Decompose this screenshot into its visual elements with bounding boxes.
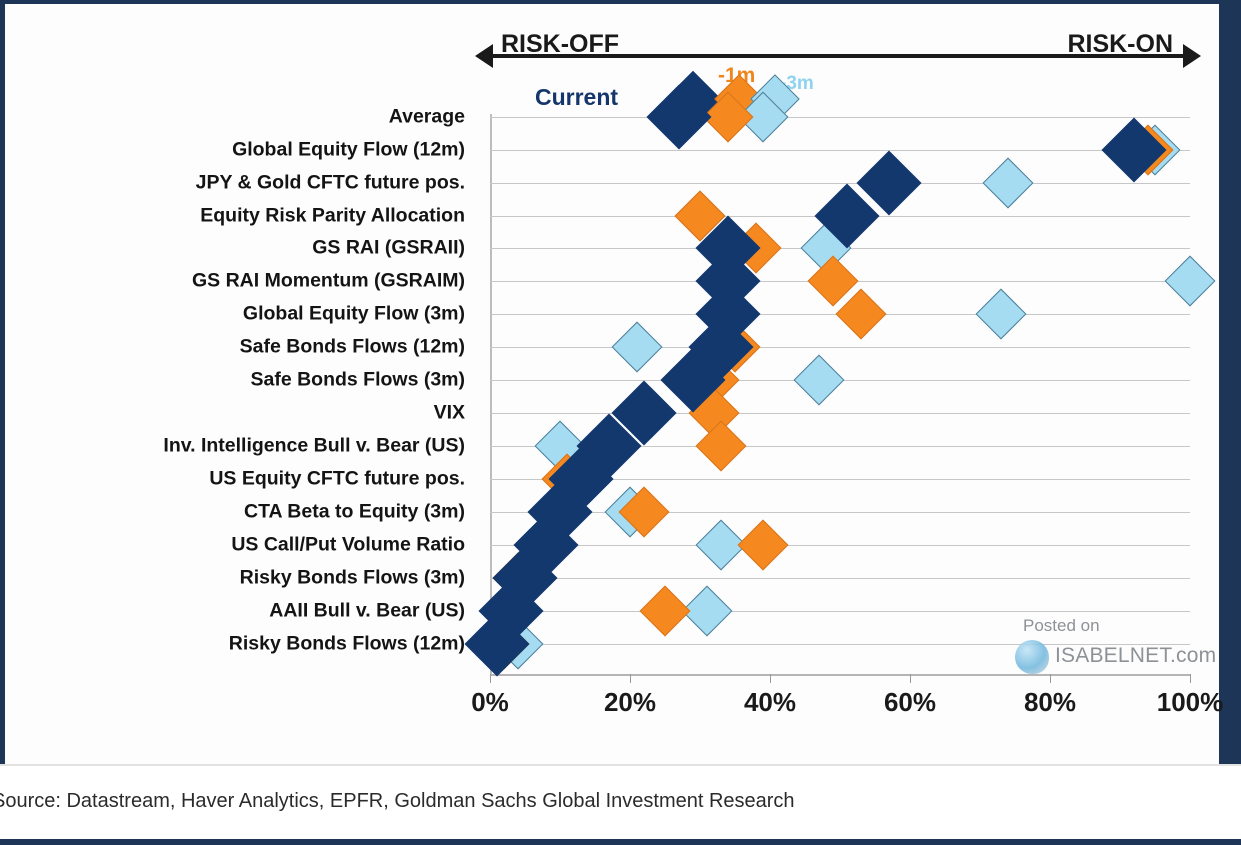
category-label: Equity Risk Parity Allocation xyxy=(200,204,465,227)
category-label: JPY & Gold CFTC future pos. xyxy=(196,171,465,194)
category-label: Average xyxy=(389,105,465,128)
x-axis-tick-label: 20% xyxy=(604,687,656,718)
x-axis-tick xyxy=(910,674,911,683)
gridline xyxy=(490,347,1190,348)
gridline xyxy=(490,611,1190,612)
watermark: Posted on ISABELNET.com xyxy=(1015,616,1215,686)
chart-footer: Source: Datastream, Haver Analytics, EPF… xyxy=(0,764,1241,839)
risk-spectrum-arrow: RISK-OFF RISK-ON xyxy=(475,34,1201,68)
arrow-right-icon xyxy=(1183,44,1201,68)
plot-area: 0%20%40%60%80%100% xyxy=(490,114,1190,674)
source-note: Source: Datastream, Haver Analytics, EPF… xyxy=(0,790,795,813)
watermark-posted-label: Posted on xyxy=(1023,616,1100,636)
category-label: US Equity CFTC future pos. xyxy=(209,468,465,491)
x-axis-tick xyxy=(490,674,491,683)
category-label: GS RAI (GSRAII) xyxy=(312,237,465,260)
legend-label-current: Current xyxy=(535,84,618,111)
category-label: GS RAI Momentum (GSRAIM) xyxy=(192,270,465,293)
risk-on-label: RISK-ON xyxy=(1067,30,1173,59)
x-axis-tick-label: 0% xyxy=(471,687,509,718)
gridline xyxy=(490,512,1190,513)
category-label: Global Equity Flow (3m) xyxy=(243,303,465,326)
gridline xyxy=(490,578,1190,579)
category-label: Safe Bonds Flows (12m) xyxy=(240,336,465,359)
watermark-site-label: ISABELNET.com xyxy=(1055,644,1216,668)
x-axis-tick xyxy=(770,674,771,683)
gridline xyxy=(490,150,1190,151)
gridline xyxy=(490,183,1190,184)
gridline xyxy=(490,545,1190,546)
chart-container: RISK-OFF RISK-ON Current -1m -3m Average… xyxy=(5,4,1219,764)
category-label: VIX xyxy=(434,402,465,425)
chart-page: RISK-OFF RISK-ON Current -1m -3m Average… xyxy=(0,0,1241,845)
frame-edge-right xyxy=(1219,0,1241,845)
x-axis-tick-label: 40% xyxy=(744,687,796,718)
category-label: US Call/Put Volume Ratio xyxy=(231,533,465,556)
globe-icon xyxy=(1015,640,1049,674)
category-label: Safe Bonds Flows (3m) xyxy=(250,369,465,392)
gridline xyxy=(490,413,1190,414)
gridline xyxy=(490,117,1190,118)
x-axis-tick-label: 80% xyxy=(1024,687,1076,718)
category-label: Inv. Intelligence Bull v. Bear (US) xyxy=(163,435,465,458)
category-label: AAII Bull v. Bear (US) xyxy=(269,599,465,622)
risk-off-label: RISK-OFF xyxy=(501,30,619,59)
x-axis-tick xyxy=(630,674,631,683)
x-axis-tick-label: 100% xyxy=(1157,687,1224,718)
category-label: Risky Bonds Flows (12m) xyxy=(229,632,465,655)
x-axis-tick-label: 60% xyxy=(884,687,936,718)
category-label: Risky Bonds Flows (3m) xyxy=(240,566,465,589)
category-label: Global Equity Flow (12m) xyxy=(232,138,465,161)
category-label: CTA Beta to Equity (3m) xyxy=(244,500,465,523)
